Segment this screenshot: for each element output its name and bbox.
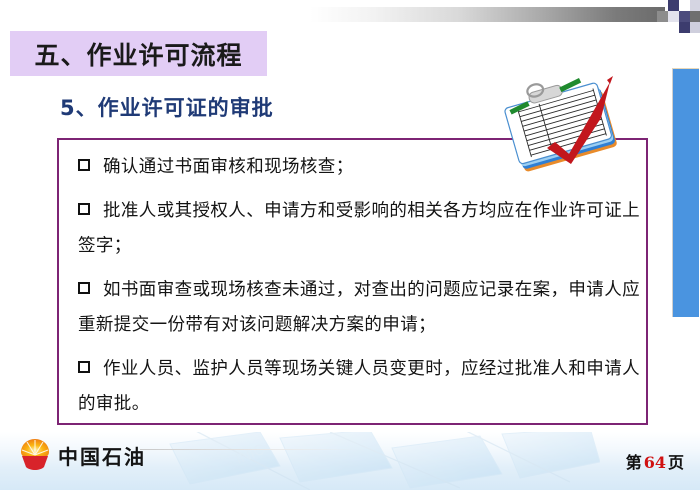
page-suffix: 页 <box>668 453 684 472</box>
section-title: 五、作业许可流程 <box>10 31 267 76</box>
footer-watermark-icon: INIC <box>130 432 600 490</box>
list-item-text: 批准人或其授权人、申请方和受影响的相关各方均应在作业许可证上签字； <box>78 201 640 256</box>
blue-accent-bar-icon <box>672 68 699 317</box>
square-bullet-icon <box>78 361 90 373</box>
petrochina-logo-icon <box>18 437 52 471</box>
slide-canvas: 五、作业许可流程 5、作业许可证的审批 确认通过书面审核和现场核查； 批准人或其… <box>0 0 700 490</box>
list-item-text: 作业人员、监护人员等现场关键人员变更时，应经过批准人和申请人的审批。 <box>78 359 640 414</box>
section-title-text: 五、作业许可流程 <box>34 36 242 72</box>
square-bullet-icon <box>78 159 90 171</box>
list-item: 批准人或其授权人、申请方和受影响的相关各方均应在作业许可证上签字； <box>78 194 648 264</box>
page-prefix: 第 <box>626 453 642 472</box>
square-bullet-icon <box>78 203 90 215</box>
brand-name: 中国石油 <box>58 441 146 470</box>
list-item-text: 如书面审查或现场核查未通过，对查出的问题应记录在案，申请人应重新提交一份带有对该… <box>78 280 640 335</box>
bullet-list: 确认通过书面审核和现场核查； 批准人或其授权人、申请方和受影响的相关各方均应在作… <box>78 150 648 431</box>
list-item-text: 确认通过书面审核和现场核查； <box>103 157 354 177</box>
square-bullet-icon <box>78 282 90 294</box>
sub-title: 5、作业许可证的审批 <box>60 92 274 122</box>
list-item: 如书面审查或现场核查未通过，对查出的问题应记录在案，申请人应重新提交一份带有对该… <box>78 273 648 343</box>
checkered-squares-icon <box>656 0 700 34</box>
footer-divider <box>140 449 358 450</box>
page-number: 第64页 <box>626 449 684 473</box>
gradient-bar-icon <box>310 7 665 22</box>
clipboard-with-red-check-icon <box>497 72 629 172</box>
list-item: 作业人员、监护人员等现场关键人员变更时，应经过批准人和申请人的审批。 <box>78 352 648 422</box>
page-number-value: 64 <box>644 453 666 472</box>
